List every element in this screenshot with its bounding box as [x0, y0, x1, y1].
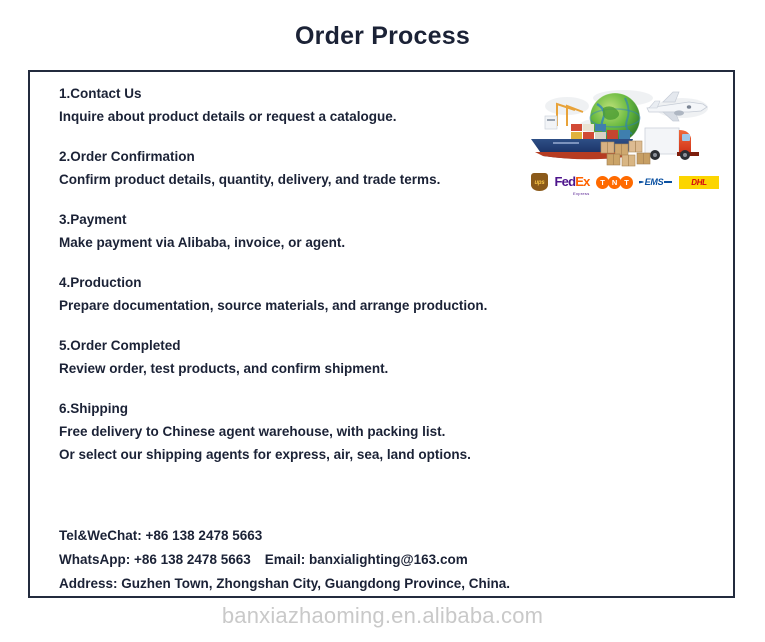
- ups-logo-icon: ups: [531, 172, 548, 192]
- site-watermark: banxiazhaoming.en.alibaba.com: [0, 603, 765, 629]
- email-label: Email: banxialighting@163.com: [265, 552, 468, 567]
- order-step: 6.Shipping Free delivery to Chinese agen…: [59, 397, 539, 466]
- dhl-yellow-box: DHL: [679, 176, 719, 189]
- order-step: 4.Production Prepare documentation, sour…: [59, 271, 539, 317]
- ems-wordmark: EMS: [639, 177, 673, 187]
- step-heading: 5.Order Completed: [59, 334, 539, 357]
- whatsapp-email-line: WhatsApp: +86 138 2478 5663Email: banxia…: [59, 548, 619, 572]
- fedex-ex-text: Ex: [575, 174, 589, 189]
- step-description-line: Make payment via Alibaba, invoice, or ag…: [59, 231, 539, 254]
- step-description-line: Free delivery to Chinese agent warehouse…: [59, 420, 539, 443]
- order-process-panel: 1.Contact Us Inquire about product detai…: [28, 70, 735, 598]
- step-description-line: Or select our shipping agents for expres…: [59, 443, 539, 466]
- step-heading: 6.Shipping: [59, 397, 539, 420]
- order-step: 5.Order Completed Review order, test pro…: [59, 334, 539, 380]
- address-line: Address: Guzhen Town, Zhongshan City, Gu…: [59, 572, 619, 596]
- dhl-logo-text: DHL: [691, 178, 707, 187]
- step-heading: 1.Contact Us: [59, 82, 539, 105]
- ship-bridge: [545, 116, 557, 129]
- ems-logo-icon: EMS: [639, 172, 673, 192]
- fedex-logo-icon: FedEx Express: [555, 172, 590, 192]
- order-step: 3.Payment Make payment via Alibaba, invo…: [59, 208, 539, 254]
- ems-logo-text: EMS: [644, 177, 665, 187]
- tnt-logo-icon: T N T: [596, 172, 632, 192]
- whatsapp-label: WhatsApp: +86 138 2478 5663: [59, 552, 251, 567]
- carrier-logos-row: ups FedEx Express T N T EMS: [531, 170, 719, 194]
- global-shipping-scene-image: [527, 86, 719, 170]
- fedex-fed-text: Fed: [555, 174, 576, 189]
- step-description-line: Review order, test products, and confirm…: [59, 357, 539, 380]
- delivery-truck: [645, 128, 699, 160]
- step-description-line: Prepare documentation, source materials,…: [59, 294, 539, 317]
- ems-right-bar: [664, 181, 672, 184]
- order-step: 2.Order Confirmation Confirm product det…: [59, 145, 539, 191]
- tnt-letter: T: [620, 176, 633, 189]
- airplane: [647, 92, 707, 121]
- step-description-line: Inquire about product details or request…: [59, 105, 539, 128]
- step-heading: 4.Production: [59, 271, 539, 294]
- dhl-logo-icon: DHL: [679, 172, 719, 192]
- fedex-wordmark: FedEx Express: [555, 174, 590, 190]
- step-heading: 2.Order Confirmation: [59, 145, 539, 168]
- ups-shield-shape: ups: [531, 173, 548, 191]
- ups-logo-text: ups: [534, 180, 544, 186]
- step-heading: 3.Payment: [59, 208, 539, 231]
- contact-details: Tel&WeChat: +86 138 2478 5663 WhatsApp: …: [59, 524, 619, 596]
- tel-wechat-line: Tel&WeChat: +86 138 2478 5663: [59, 524, 619, 548]
- fedex-express-subtext: Express: [573, 192, 590, 196]
- tnt-circles: T N T: [596, 176, 632, 189]
- truck-trailer: [645, 128, 679, 154]
- step-description-line: Confirm product details, quantity, deliv…: [59, 168, 539, 191]
- order-step: 1.Contact Us Inquire about product detai…: [59, 82, 539, 128]
- order-steps-list: 1.Contact Us Inquire about product detai…: [59, 82, 539, 483]
- logistics-graphic: ups FedEx Express T N T EMS: [527, 86, 719, 201]
- page-title: Order Process: [0, 22, 765, 51]
